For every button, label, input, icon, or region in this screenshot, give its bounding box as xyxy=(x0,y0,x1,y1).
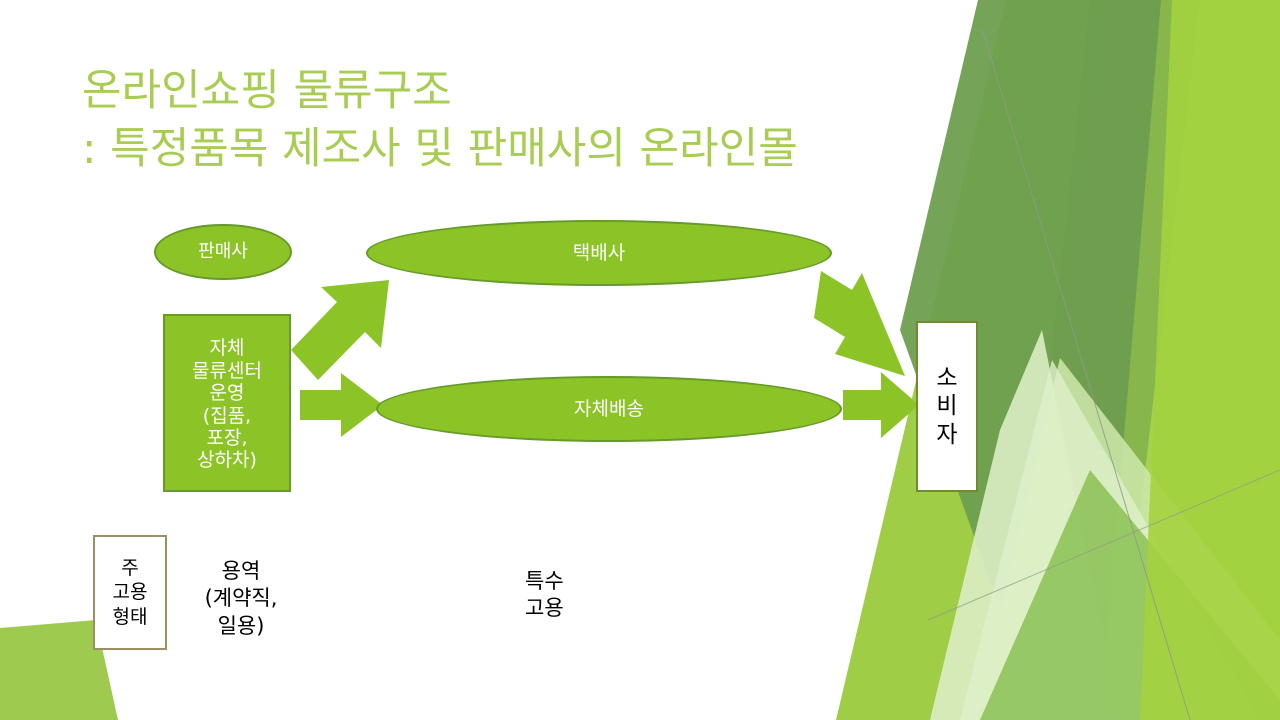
deco-hairline-2 xyxy=(928,470,1280,620)
node-courier[interactable]: 택배사 xyxy=(366,220,832,286)
deco-hairline-1 xyxy=(982,28,1190,720)
deco-shape-right-light xyxy=(1000,0,1280,720)
deco-shape-pale-lower-left xyxy=(960,360,1260,720)
legend-special-employment-label: 특수 고용 xyxy=(525,568,655,623)
arrow-center-to-selfdelivery xyxy=(300,373,383,437)
node-seller[interactable]: 판매사 xyxy=(154,224,292,280)
legend-service-label: 용역 (계약직, 일용) xyxy=(176,558,306,640)
slide-canvas: 온라인쇼핑 물류구조 : 특정품목 제조사 및 판매사의 온라인몰 판매사 택배… xyxy=(0,0,1280,720)
node-logistics-center[interactable]: 자체 물류센터 운영 (집품, 포장, 상하차) xyxy=(163,314,291,492)
deco-shape-bright-right xyxy=(1140,0,1280,720)
legend-employment-type-box: 주 고용 형태 xyxy=(93,535,167,650)
node-self-delivery[interactable]: 자체배송 xyxy=(376,376,842,442)
deco-shape-mid-lower xyxy=(980,470,1280,720)
arrow-selfdelivery-to-consumer xyxy=(843,372,919,438)
page-title: 온라인쇼핑 물류구조 : 특정품목 제조사 및 판매사의 온라인몰 xyxy=(82,62,982,178)
deco-shape-dark-diagonal-2 xyxy=(1012,0,1200,720)
arrow-center-to-courier xyxy=(291,280,389,380)
deco-shape-pale-large xyxy=(975,358,1280,720)
arrow-courier-to-consumer xyxy=(814,271,905,376)
node-consumer[interactable]: 소 비 자 xyxy=(916,321,978,492)
